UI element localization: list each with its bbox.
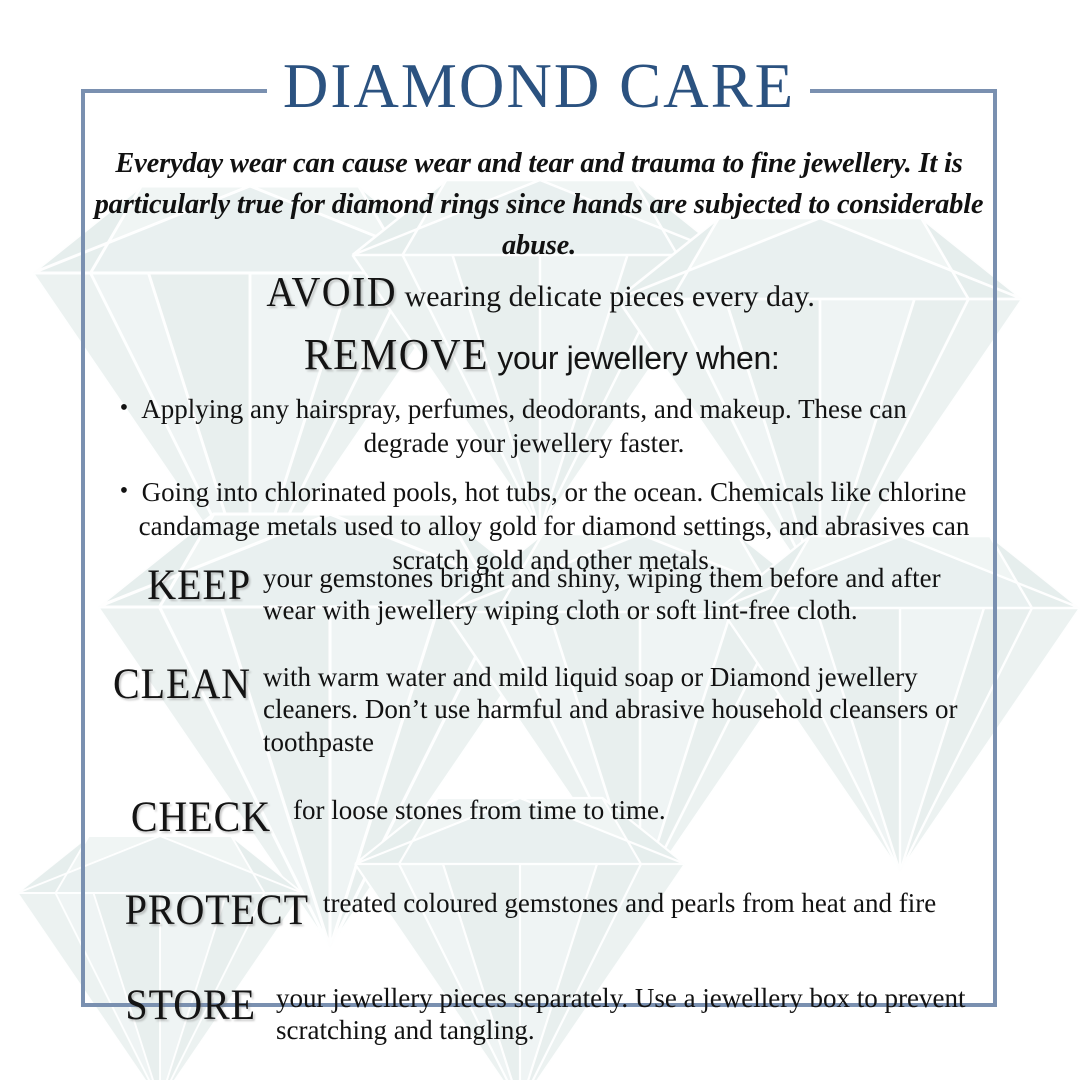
care-keyword-protect: PROTECT	[97, 887, 309, 932]
care-keyword-check: CHECK	[94, 794, 271, 839]
care-text-clean: with warm water and mild liquid soap or …	[251, 661, 997, 758]
care-keyword-store: STORE	[93, 982, 256, 1027]
poster-content: DIAMOND CARE Everyday wear can cause wea…	[81, 89, 997, 1007]
care-instruction-rows: KEEP your gemstones bright and shiny, wi…	[81, 562, 997, 1047]
care-text-store: your jewellery pieces separately. Use a …	[256, 982, 997, 1047]
care-row-protect: PROTECT treated coloured gemstones and p…	[81, 887, 997, 932]
remove-line: REMOVE your jewellery when:	[81, 329, 997, 380]
remove-text: your jewellery when:	[497, 340, 779, 376]
remove-bullet-list: • Applying any hairspray, perfumes, deod…	[111, 392, 971, 587]
bullet-marker-icon: •	[111, 475, 137, 506]
care-keyword-clean: CLEAN	[93, 661, 251, 706]
list-item: • Applying any hairspray, perfumes, deod…	[111, 392, 971, 461]
care-row-store: STORE your jewellery pieces separately. …	[81, 982, 997, 1047]
list-item-text: Applying any hairspray, perfumes, deodor…	[137, 392, 911, 461]
care-text-check: for loose stones from time to time.	[271, 794, 997, 826]
avoid-line: AVOID wearing delicate pieces every day.	[81, 269, 997, 317]
remove-keyword: REMOVE	[304, 329, 489, 380]
intro-paragraph: Everyday wear can cause wear and tear an…	[89, 143, 989, 266]
diamond-care-poster: DIAMOND CARE Everyday wear can cause wea…	[0, 0, 1080, 1080]
care-text-protect: treated coloured gemstones and pearls fr…	[309, 887, 997, 919]
bullet-marker-icon: •	[111, 392, 137, 423]
care-keyword-keep: KEEP	[93, 562, 251, 607]
care-row-keep: KEEP your gemstones bright and shiny, wi…	[81, 562, 997, 627]
avoid-text: wearing delicate pieces every day.	[405, 280, 815, 313]
care-row-check: CHECK for loose stones from time to time…	[81, 794, 997, 839]
care-text-keep: your gemstones bright and shiny, wiping …	[251, 562, 997, 627]
care-row-clean: CLEAN with warm water and mild liquid so…	[81, 661, 997, 758]
page-title: DIAMOND CARE	[81, 55, 997, 118]
avoid-keyword: AVOID	[267, 269, 398, 317]
